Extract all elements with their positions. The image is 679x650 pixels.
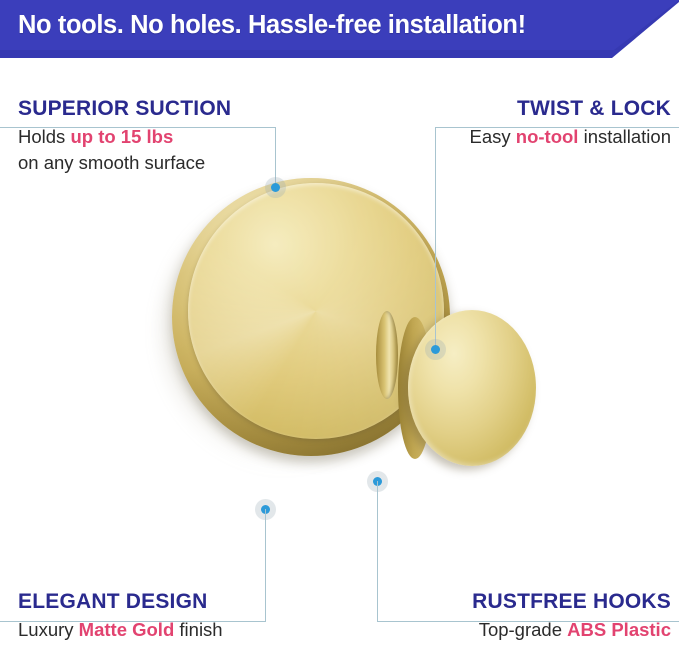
callout-line1-elegant-design: Luxury Matte Gold finish [18,617,223,643]
callout-line1-twist-and-lock: Easy no-tool installation [469,124,671,150]
callout-line1-post-twist-and-lock: installation [578,126,671,147]
callout-rustfree-hooks: RUSTFREE HOOKS Top-grade ABS Plastic [472,589,671,643]
product-stem-ring [376,311,398,399]
callout-line1-highlight-elegant-design: Matte Gold [79,619,175,640]
callout-line2-superior-suction: on any smooth surface [18,150,231,176]
callout-title-superior-suction: SUPERIOR SUCTION [18,96,231,122]
connector-line-superior-suction-vertical [275,127,276,187]
connector-line-elegant-design-vertical [265,509,266,621]
callout-dot-twist-lock [431,345,440,354]
callout-line1-post-elegant-design: finish [174,619,222,640]
callout-twist-and-lock: TWIST & LOCK Easy no-tool installation [469,96,671,150]
product-infographic: No tools. No holes. Hassle-free installa… [0,0,679,650]
callout-line1-superior-suction: Holds up to 15 lbs [18,124,231,150]
connector-line-rustfree-hooks-vertical [377,481,378,621]
callout-dot-superior-suction [271,183,280,192]
banner-headline: No tools. No holes. Hassle-free installa… [18,6,618,44]
callout-elegant-design: ELEGANT DESIGN Luxury Matte Gold finish [18,589,223,643]
callout-line1-rustfree-hooks: Top-grade ABS Plastic [472,617,671,643]
product-image [150,165,550,545]
callout-superior-suction: SUPERIOR SUCTION Holds up to 15 lbs on a… [18,96,231,176]
callout-line1-highlight-superior-suction: up to 15 lbs [70,126,173,147]
callout-line1-pre-twist-and-lock: Easy [469,126,515,147]
callout-line1-highlight-rustfree-hooks: ABS Plastic [567,619,671,640]
callout-title-twist-and-lock: TWIST & LOCK [469,96,671,122]
product-knob-cap [408,310,536,466]
callout-title-elegant-design: ELEGANT DESIGN [18,589,223,615]
callout-line1-pre-elegant-design: Luxury [18,619,79,640]
connector-line-twist-lock-vertical [435,127,436,349]
callout-line1-pre-rustfree-hooks: Top-grade [479,619,567,640]
callout-line1-pre-superior-suction: Holds [18,126,70,147]
callout-line1-highlight-twist-and-lock: no-tool [516,126,579,147]
callout-title-rustfree-hooks: RUSTFREE HOOKS [472,589,671,615]
